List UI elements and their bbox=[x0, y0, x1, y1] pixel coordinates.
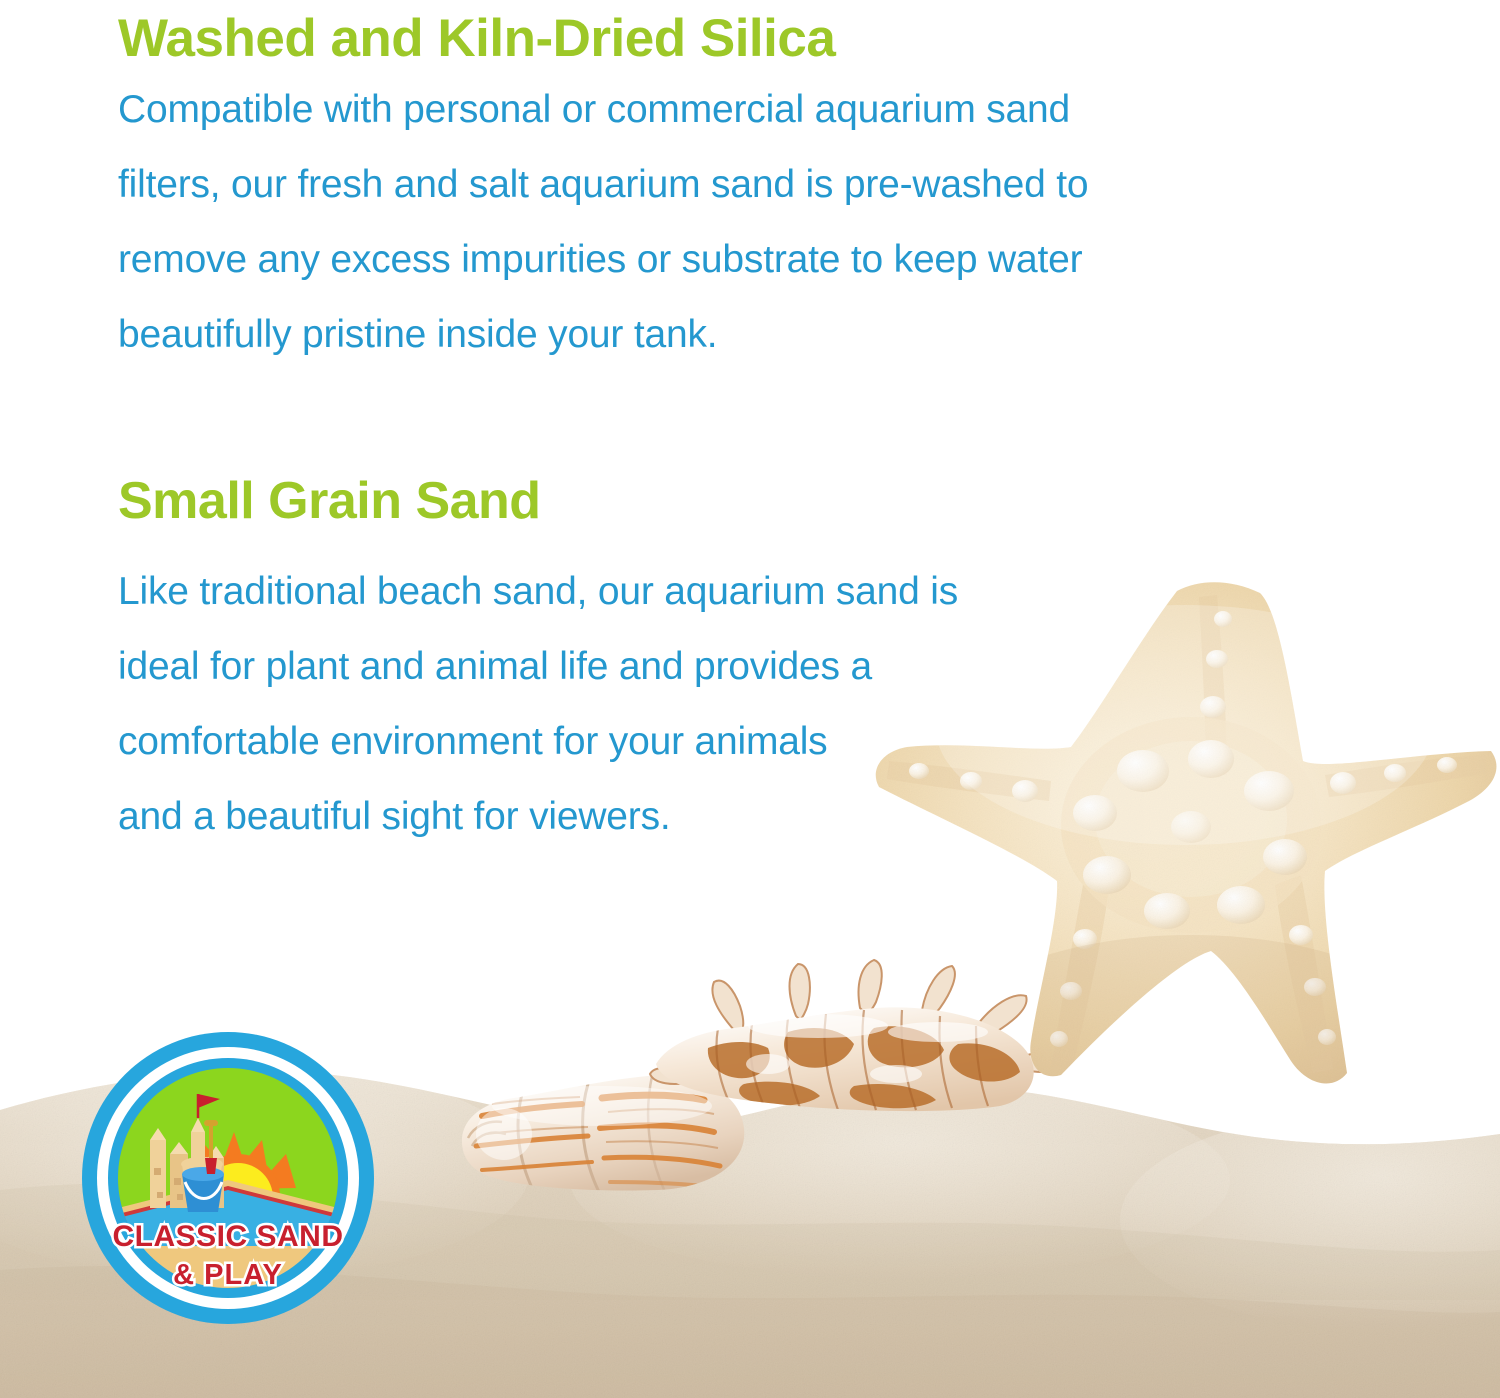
section-paragraph-washed-kiln-dried-silica: Compatible with personal or commercial a… bbox=[118, 72, 1358, 372]
logo-line-1: CLASSIC SAND bbox=[112, 1220, 343, 1253]
paragraph-line: Compatible with personal or commercial a… bbox=[118, 72, 1358, 147]
paragraph-line: and a beautiful sight for viewers. bbox=[118, 779, 1358, 854]
paragraph-line: beautifully pristine inside your tank. bbox=[118, 297, 1358, 372]
product-feature-panel: Washed and Kiln-Dried Silica Compatible … bbox=[0, 0, 1500, 1398]
section-paragraph-small-grain-sand: Like traditional beach sand, our aquariu… bbox=[118, 554, 1358, 854]
paragraph-line: Like traditional beach sand, our aquariu… bbox=[118, 554, 1358, 629]
paragraph-line: comfortable environment for your animals bbox=[118, 704, 1358, 779]
logo-illustration: CLASSIC SAND & PLAY bbox=[78, 1028, 378, 1328]
section-spacer bbox=[118, 372, 1358, 468]
section-heading-small-grain-sand: Small Grain Sand bbox=[118, 468, 1358, 534]
brand-logo-classic-sand-and-play[interactable]: CLASSIC SAND & PLAY bbox=[78, 1028, 378, 1328]
heading-spacer bbox=[118, 534, 1358, 554]
section-heading-washed-kiln-dried-silica: Washed and Kiln-Dried Silica bbox=[118, 0, 1358, 72]
logo-line-2: & PLAY bbox=[173, 1259, 283, 1291]
paragraph-line: filters, our fresh and salt aquarium san… bbox=[118, 147, 1358, 222]
feature-copy: Washed and Kiln-Dried Silica Compatible … bbox=[118, 0, 1358, 854]
paragraph-line: remove any excess impurities or substrat… bbox=[118, 222, 1358, 297]
paragraph-line: ideal for plant and animal life and prov… bbox=[118, 629, 1358, 704]
